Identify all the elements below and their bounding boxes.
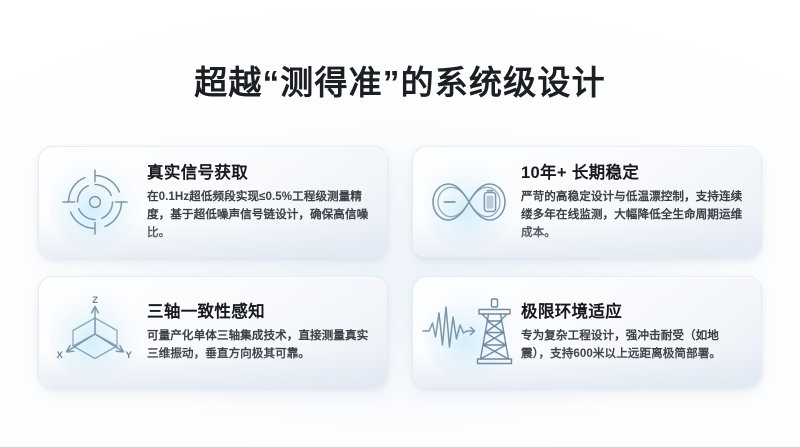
- text-zone: 三轴一致性感知 可量产化单体三轴集成技术，直接测量真实三维振动，垂直方向极其可靠…: [143, 302, 373, 363]
- three-axis-cube-icon: Z Y X: [55, 294, 135, 370]
- axis-label-z: Z: [92, 295, 98, 306]
- feature-card-title: 10年+ 长期稳定: [521, 163, 745, 184]
- icon-zone: Z Y X: [47, 284, 143, 380]
- title-section: 超越“测得准”的系统级设计: [0, 0, 800, 103]
- feature-card-real-signal-acquisition[interactable]: 真实信号获取 在0.1Hz超低频段实现≤0.5%工程级测量精度，基于超低噪声信号…: [38, 146, 388, 258]
- feature-card-title: 极限环境适应: [521, 302, 745, 323]
- waveform-tower-icon: [422, 293, 516, 371]
- infinity-battery-icon: [427, 172, 511, 232]
- page-title: 超越“测得准”的系统级设计: [0, 62, 800, 103]
- feature-card-title: 三轴一致性感知: [147, 302, 371, 323]
- feature-card-description: 专为复杂工程设计，强冲击耐受（如地震），支持600米以上远距离极简部署。: [521, 327, 745, 363]
- feature-card-description: 在0.1Hz超低频段实现≤0.5%工程级测量精度，基于超低噪声信号链设计，确保高…: [147, 188, 371, 242]
- feature-card-description: 严苛的高稳定设计与低温漂控制，支持连续缕多年在线监测，大幅降低全生命周期运维成本…: [521, 188, 745, 242]
- axis-label-x: X: [57, 350, 64, 361]
- text-zone: 极限环境适应 专为复杂工程设计，强冲击耐受（如地震），支持600米以上远距离极简…: [517, 302, 747, 363]
- axis-label-y: Y: [126, 350, 133, 361]
- icon-zone: [421, 154, 517, 250]
- feature-card-triaxial-consistency[interactable]: Z Y X 三轴一致性感知 可量产化单体三轴集成技术，直接测量真实三维振动，垂直…: [38, 276, 388, 388]
- feature-card-long-term-stability[interactable]: 10年+ 长期稳定 严苛的高稳定设计与低温漂控制，支持连续缕多年在线监测，大幅降…: [412, 146, 762, 258]
- crosshair-target-icon: [57, 164, 133, 240]
- text-zone: 10年+ 长期稳定 严苛的高稳定设计与低温漂控制，支持连续缕多年在线监测，大幅降…: [517, 163, 747, 242]
- slide-root: 超越“测得准”的系统级设计: [0, 0, 800, 447]
- feature-card-extreme-environment[interactable]: 极限环境适应 专为复杂工程设计，强冲击耐受（如地震），支持600米以上远距离极简…: [412, 276, 762, 388]
- text-zone: 真实信号获取 在0.1Hz超低频段实现≤0.5%工程级测量精度，基于超低噪声信号…: [143, 163, 373, 242]
- feature-card-title: 真实信号获取: [147, 163, 371, 184]
- icon-zone: [421, 284, 517, 380]
- feature-card-grid: 真实信号获取 在0.1Hz超低频段实现≤0.5%工程级测量精度，基于超低噪声信号…: [38, 146, 762, 388]
- icon-zone: [47, 154, 143, 250]
- feature-card-description: 可量产化单体三轴集成技术，直接测量真实三维振动，垂直方向极其可靠。: [147, 327, 371, 363]
